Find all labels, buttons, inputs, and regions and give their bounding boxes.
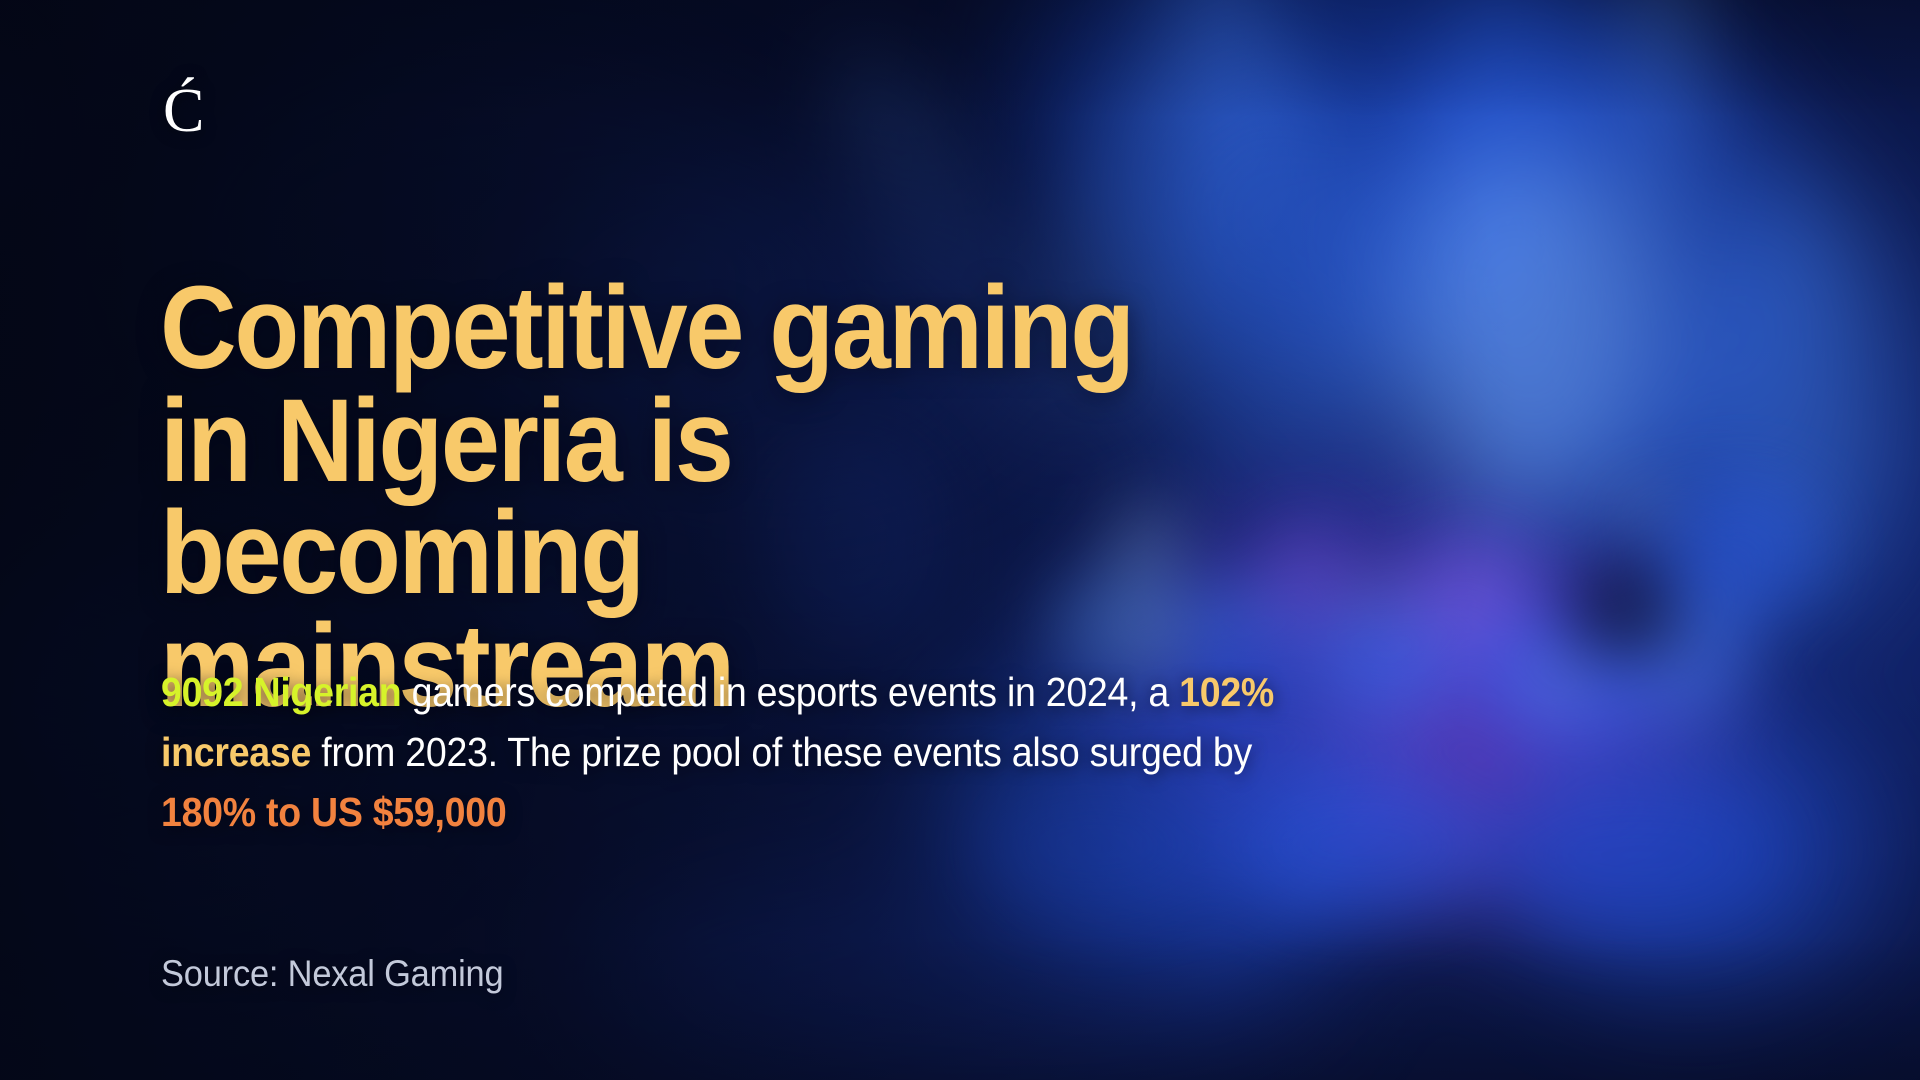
page-title: Competitive gaming in Nigeria is becomin… (160, 272, 1168, 723)
source-attribution: Source: Nexal Gaming (161, 952, 503, 996)
brand-logo-c-acute-icon: Ć (163, 80, 204, 142)
body-text-segment-2: from 2023. The prize pool of these event… (311, 729, 1252, 775)
stat-gamer-count-highlight: 9092 Nigerian (161, 669, 401, 715)
body-paragraph: 9092 Nigerian gamers competed in esports… (161, 663, 1341, 843)
headline-line-2: in Nigeria is becoming (160, 375, 732, 620)
infographic-card: Ć Competitive gaming in Nigeria is becom… (0, 0, 1920, 1080)
body-text-segment-1: gamers competed in esports events in 202… (401, 669, 1179, 715)
stat-prize-pool-highlight: 180% to US $59,000 (161, 789, 506, 835)
content-layer: Ć Competitive gaming in Nigeria is becom… (0, 0, 1920, 1080)
